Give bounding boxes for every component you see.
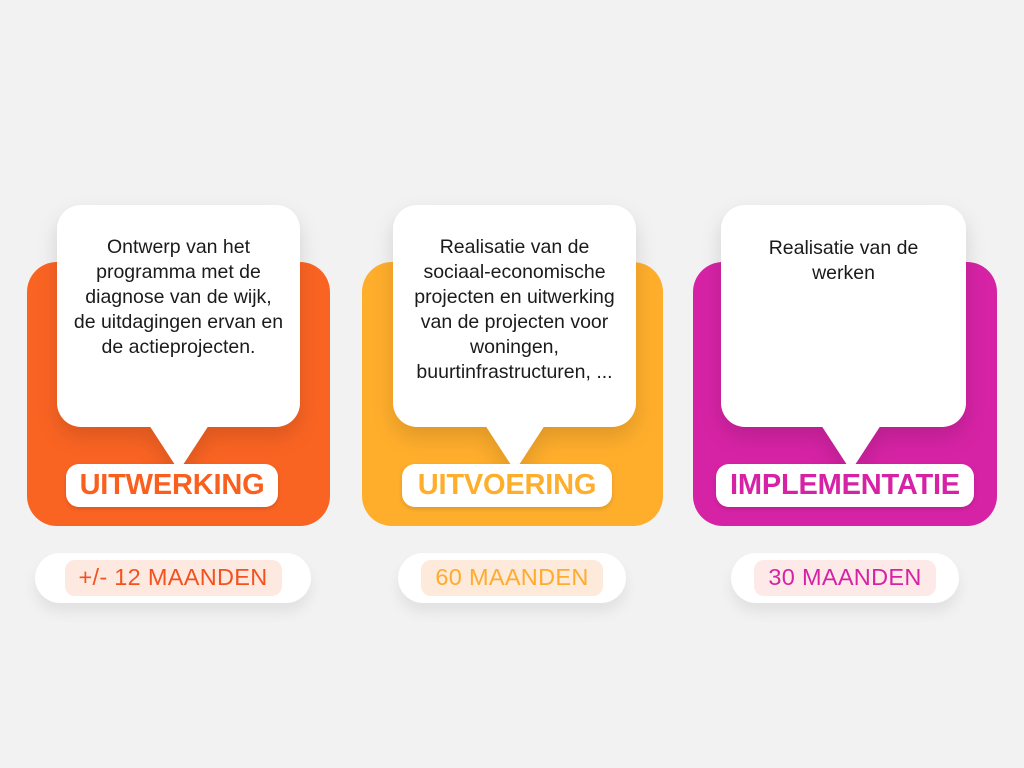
phase-label-chip-uitvoering: UITVOERING	[402, 464, 612, 507]
phase-duration-pill-uitvoering: 60 MAANDEN	[398, 553, 626, 603]
phase-duration-text: +/- 12 MAANDEN	[65, 560, 282, 596]
phase-column-uitvoering: Realisatie van de sociaal-economische pr…	[340, 0, 680, 768]
phase-label-chip-uitwerking: UITWERKING	[66, 464, 278, 507]
phase-duration-text: 30 MAANDEN	[754, 560, 935, 596]
phase-description-text: Ontwerp van het programma met de diagnos…	[73, 227, 284, 360]
phase-label-chip-implementatie: IMPLEMENTATIE	[716, 464, 974, 507]
phase-description-bubble-uitwerking: Ontwerp van het programma met de diagnos…	[57, 205, 300, 427]
phase-description-bubble-implementatie: Realisatie van de werken	[721, 205, 966, 427]
phase-duration-pill-implementatie: 30 MAANDEN	[731, 553, 959, 603]
phase-duration-text: 60 MAANDEN	[421, 560, 602, 596]
phase-column-uitwerking: Ontwerp van het programma met de diagnos…	[0, 0, 352, 768]
phase-duration-pill-uitwerking: +/- 12 MAANDEN	[35, 553, 311, 603]
phase-column-implementatie: Realisatie van de werken IMPLEMENTATIE 3…	[676, 0, 1024, 768]
infographic-timeline: Ontwerp van het programma met de diagnos…	[0, 0, 1024, 768]
phase-description-text: Realisatie van de sociaal-economische pr…	[409, 227, 620, 385]
phase-description-bubble-uitvoering: Realisatie van de sociaal-economische pr…	[393, 205, 636, 427]
phase-description-text: Realisatie van de werken	[737, 227, 950, 286]
